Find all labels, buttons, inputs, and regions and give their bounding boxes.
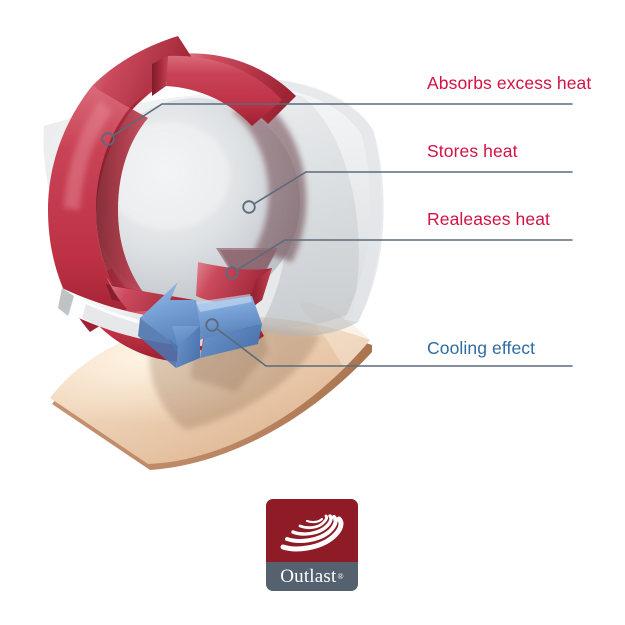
logo-registered-mark: ® — [338, 572, 344, 581]
outlast-logo: Outlast® — [266, 499, 358, 591]
callout-label-cooling-effect: Cooling effect — [427, 338, 535, 359]
callout-label-stores-heat: Stores heat — [427, 141, 518, 162]
logo-swirl-icon — [275, 511, 349, 557]
logo-brand-text: Outlast — [280, 566, 336, 588]
callout-label-realeases-heat: Realeases heat — [427, 209, 550, 230]
diagram-canvas: Absorbs excess heat Stores heat Realease… — [0, 0, 625, 625]
callout-label-absorbs-excess-heat: Absorbs excess heat — [427, 73, 591, 94]
logo-wordmark: Outlast® — [266, 562, 358, 591]
